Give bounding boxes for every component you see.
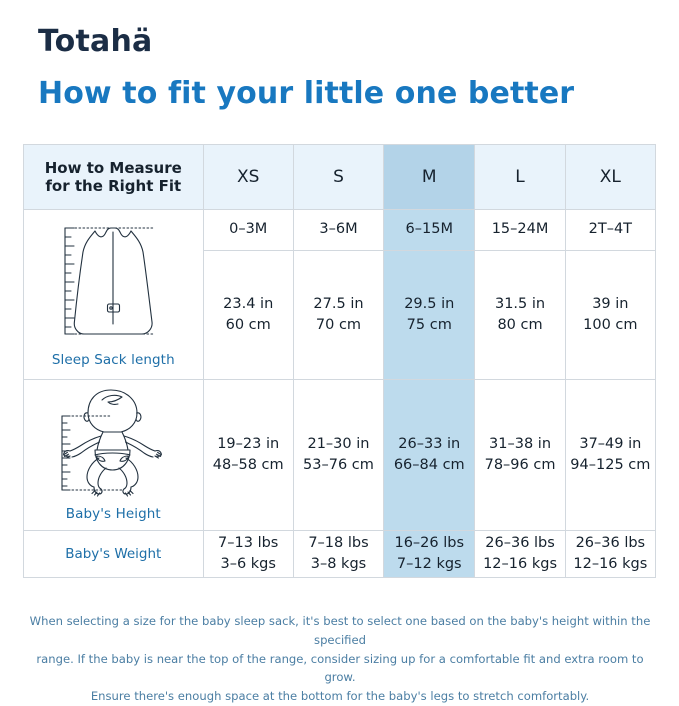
height-xl-cm: 94–125 cm [566, 455, 655, 476]
age-xs: 0–3M [203, 210, 293, 251]
weight-m-lbs: 16–26 lbs [384, 533, 474, 554]
height-s: 21–30 in 53–76 cm [293, 380, 383, 531]
height-s-in: 21–30 in [294, 434, 383, 455]
height-m-in: 26–33 in [384, 434, 474, 455]
height-xs: 19–23 in 48–58 cm [203, 380, 293, 531]
length-m-cm: 75 cm [384, 315, 474, 336]
height-xl-in: 37–49 in [566, 434, 655, 455]
weight-m: 16–26 lbs 7–12 kgs [384, 531, 475, 578]
table-row-baby-height: Baby's Height 19–23 in 48–58 cm 21–30 in… [24, 380, 656, 531]
size-chart-page: Totahä How to fit your little one better… [0, 0, 679, 679]
baby-illustration-cell: Baby's Height [24, 380, 204, 531]
length-s-in: 27.5 in [294, 294, 383, 315]
header-size-m[interactable]: M [384, 145, 475, 210]
length-s-cm: 70 cm [294, 315, 383, 336]
age-s: 3–6M [293, 210, 383, 251]
weight-l-lbs: 26–36 lbs [475, 533, 564, 554]
weight-xs-lbs: 7–13 lbs [204, 533, 293, 554]
table-header-row: How to Measure for the Right Fit XS S M … [24, 145, 656, 210]
height-m: 26–33 in 66–84 cm [384, 380, 475, 531]
age-xl: 2T–4T [565, 210, 655, 251]
weight-xs: 7–13 lbs 3–6 kgs [203, 531, 293, 578]
height-s-cm: 53–76 cm [294, 455, 383, 476]
weight-xl-kgs: 12–16 kgs [566, 554, 655, 575]
table-row-age: Sleep Sack length 0–3M 3–6M 6–15M 15–24M… [24, 210, 656, 251]
height-xs-cm: 48–58 cm [204, 455, 293, 476]
length-l: 31.5 in 80 cm [475, 251, 565, 380]
header-size-xs[interactable]: XS [203, 145, 293, 210]
height-m-cm: 66–84 cm [384, 455, 474, 476]
age-m: 6–15M [384, 210, 475, 251]
length-l-in: 31.5 in [475, 294, 564, 315]
baby-illustration-icon [44, 386, 182, 502]
header-size-xl[interactable]: XL [565, 145, 655, 210]
weight-s: 7–18 lbs 3–8 kgs [293, 531, 383, 578]
length-xs-in: 23.4 in [204, 294, 293, 315]
height-xl: 37–49 in 94–125 cm [565, 380, 655, 531]
size-chart-table: How to Measure for the Right Fit XS S M … [23, 144, 656, 578]
weight-l: 26–36 lbs 12–16 kgs [475, 531, 565, 578]
length-xl-in: 39 in [566, 294, 655, 315]
height-l-cm: 78–96 cm [475, 455, 564, 476]
footer-note: When selecting a size for the baby sleep… [22, 612, 658, 706]
length-xs: 23.4 in 60 cm [203, 251, 293, 380]
weight-m-kgs: 7–12 kgs [384, 554, 474, 575]
length-m: 29.5 in 75 cm [384, 251, 475, 380]
height-l-in: 31–38 in [475, 434, 564, 455]
sleep-sack-illustration-cell: Sleep Sack length [24, 210, 204, 380]
weight-l-kgs: 12–16 kgs [475, 554, 564, 575]
table-row-baby-weight: Baby's Weight 7–13 lbs 3–6 kgs 7–18 lbs … [24, 531, 656, 578]
header-measure-label: How to Measure for the Right Fit [24, 145, 204, 210]
length-l-cm: 80 cm [475, 315, 564, 336]
baby-weight-label: Baby's Weight [24, 531, 204, 578]
length-xs-cm: 60 cm [204, 315, 293, 336]
sleep-sack-illustration-icon [49, 220, 177, 348]
footer-line-2: range. If the baby is near the top of th… [22, 650, 658, 688]
page-title: How to fit your little one better [38, 78, 574, 110]
header-size-l[interactable]: L [475, 145, 565, 210]
weight-s-lbs: 7–18 lbs [294, 533, 383, 554]
footer-line-3: Ensure there's enough space at the botto… [22, 687, 658, 706]
length-s: 27.5 in 70 cm [293, 251, 383, 380]
height-xs-in: 19–23 in [204, 434, 293, 455]
weight-xl: 26–36 lbs 12–16 kgs [565, 531, 655, 578]
height-l: 31–38 in 78–96 cm [475, 380, 565, 531]
weight-s-kgs: 3–8 kgs [294, 554, 383, 575]
length-m-in: 29.5 in [384, 294, 474, 315]
length-xl-cm: 100 cm [566, 315, 655, 336]
header-size-s[interactable]: S [293, 145, 383, 210]
footer-line-1: When selecting a size for the baby sleep… [22, 612, 658, 650]
brand-logo: Totahä [38, 27, 152, 57]
baby-height-caption: Baby's Height [66, 506, 161, 522]
weight-xs-kgs: 3–6 kgs [204, 554, 293, 575]
sleep-sack-caption: Sleep Sack length [52, 352, 175, 368]
length-xl: 39 in 100 cm [565, 251, 655, 380]
weight-xl-lbs: 26–36 lbs [566, 533, 655, 554]
age-l: 15–24M [475, 210, 565, 251]
